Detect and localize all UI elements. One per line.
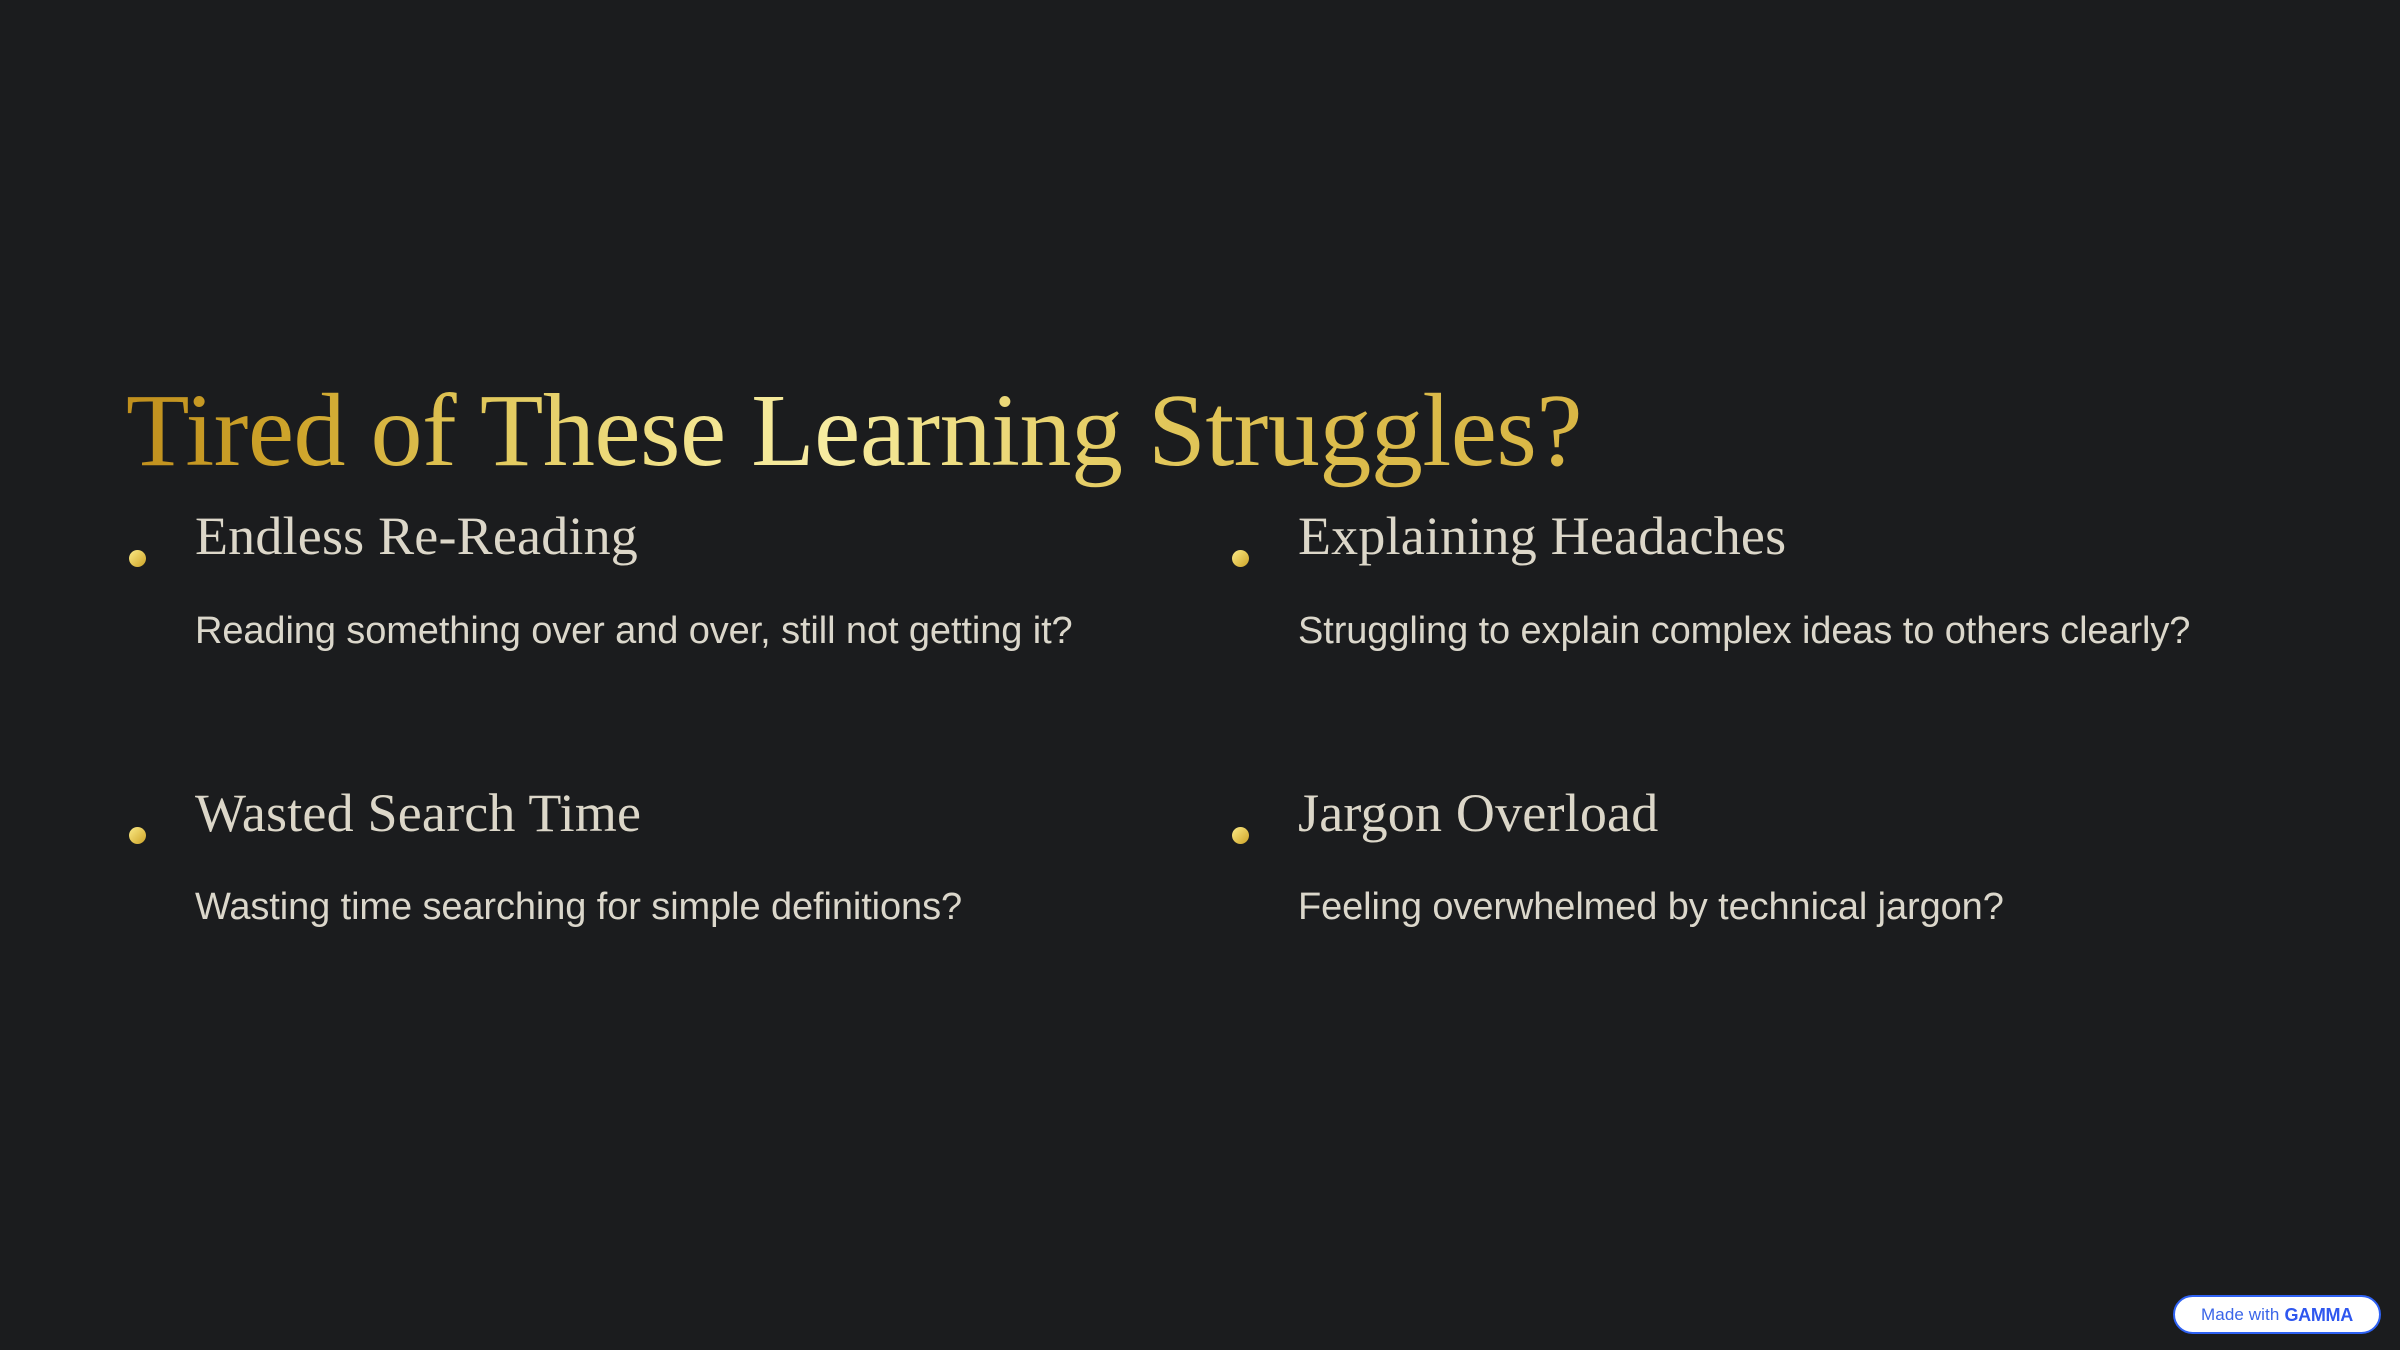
page-title: Tired of These Learning Struggles? xyxy=(126,373,1582,489)
slide-canvas: Tired of These Learning Struggles? Endle… xyxy=(0,0,2400,1350)
list-item-body: Wasting time searching for simple defini… xyxy=(195,872,1205,943)
bullet-dot-icon xyxy=(1232,827,1249,844)
bullet-dot-icon xyxy=(1232,550,1249,567)
list-item-body: Feeling overwhelmed by technical jargon? xyxy=(1298,872,2258,943)
list-item: Jargon Overload Feeling overwhelmed by t… xyxy=(1229,782,2274,944)
list-item-body: Reading something over and over, still n… xyxy=(195,596,1205,667)
list-item: Explaining Headaches Struggling to expla… xyxy=(1229,505,2274,667)
list-item: Endless Re-Reading Reading something ove… xyxy=(126,505,1229,667)
list-item-title: Endless Re-Reading xyxy=(195,505,1229,569)
gamma-logo-wordmark: GAMMA xyxy=(2284,1306,2353,1324)
bullet-grid: Endless Re-Reading Reading something ove… xyxy=(126,505,2274,943)
list-item-title: Explaining Headaches xyxy=(1298,505,2274,569)
list-item-title: Wasted Search Time xyxy=(195,782,1229,846)
bullet-dot-icon xyxy=(129,827,146,844)
list-item: Wasted Search Time Wasting time searchin… xyxy=(126,782,1229,944)
list-item-body: Struggling to explain complex ideas to o… xyxy=(1298,596,2258,667)
list-item-title: Jargon Overload xyxy=(1298,782,2274,846)
made-with-gamma-badge[interactable]: Made with GAMMA xyxy=(2173,1295,2381,1334)
bullet-dot-icon xyxy=(129,550,146,567)
badge-prefix-label: Made with xyxy=(2201,1306,2279,1323)
